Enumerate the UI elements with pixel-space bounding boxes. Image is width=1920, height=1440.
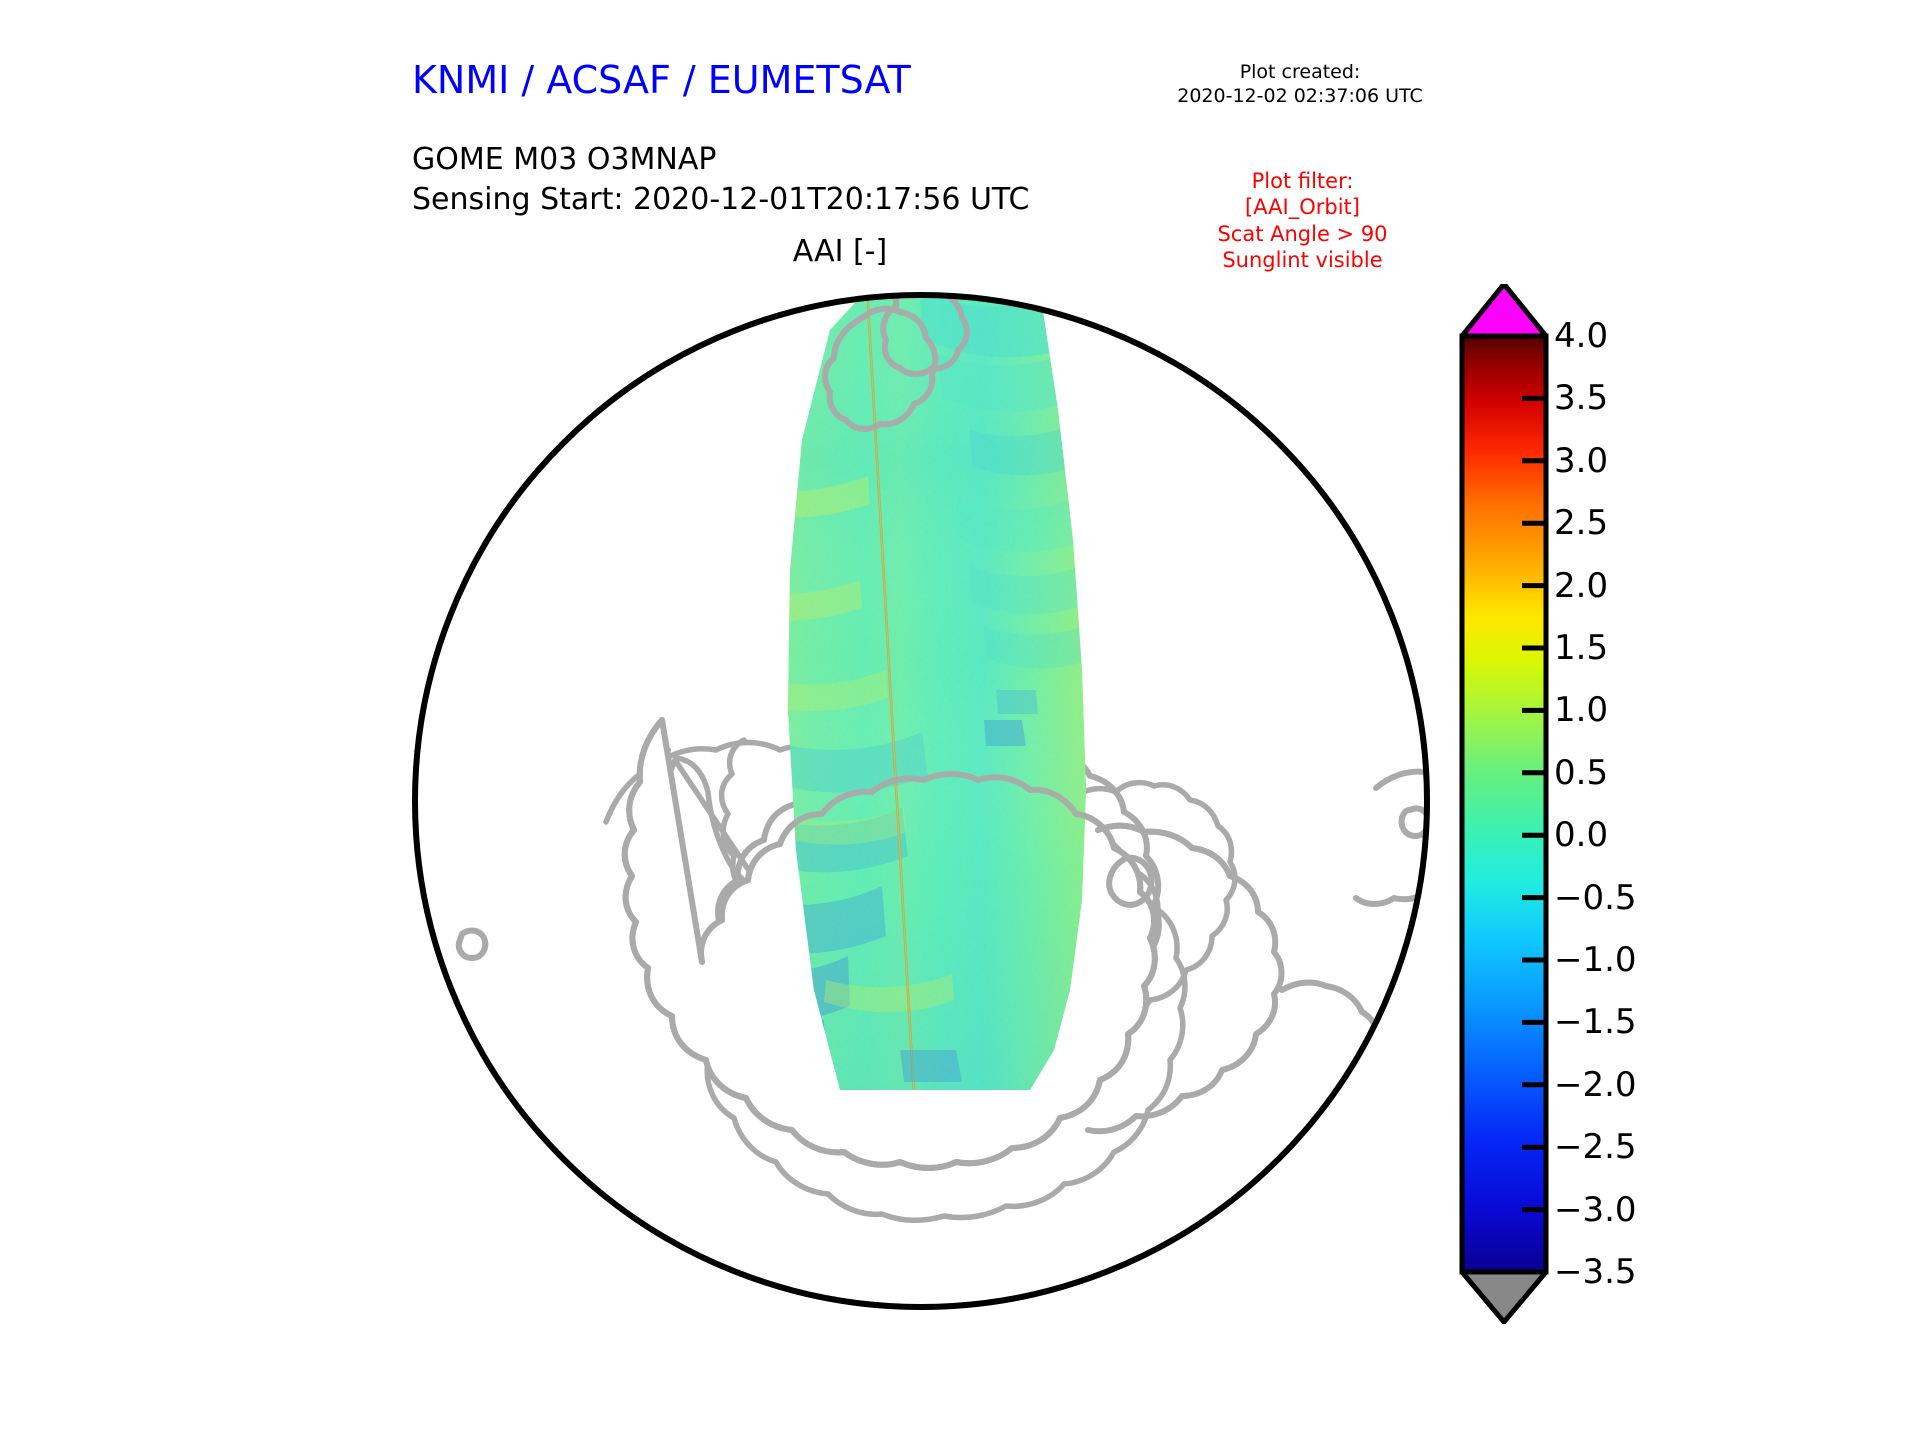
colorbar-graphic — [1448, 284, 1568, 1324]
plot-created-block: Plot created: 2020-12-02 02:37:06 UTC — [1155, 60, 1445, 109]
colorbar-tick-label: −3.0 — [1554, 1190, 1637, 1230]
colorbar-tick-label: 2.0 — [1554, 566, 1608, 606]
colorbar-tick-label: −0.5 — [1554, 878, 1637, 918]
polar-map — [410, 290, 1432, 1312]
organisation-title: KNMI / ACSAF / EUMETSAT — [412, 58, 911, 102]
colorbar-tick-label: 1.5 — [1554, 628, 1608, 668]
colorbar-tick-label: −3.5 — [1554, 1252, 1637, 1292]
colorbar-tick-label: 0.0 — [1554, 815, 1608, 855]
colorbar-tick-label: −2.0 — [1554, 1065, 1637, 1105]
colorbar: 4.03.53.02.52.01.51.00.50.0−0.5−1.0−1.5−… — [1448, 284, 1778, 1324]
plot-created-label: Plot created: — [1155, 60, 1445, 84]
plot-filter-line-1: [AAI_Orbit] — [1175, 194, 1430, 220]
colorbar-tick-label: 3.0 — [1554, 441, 1608, 481]
colorbar-tick-label: −1.0 — [1554, 940, 1637, 980]
plot-created-timestamp: 2020-12-02 02:37:06 UTC — [1155, 84, 1445, 108]
colorbar-tick-label: 2.5 — [1554, 503, 1608, 543]
colorbar-tick-label: 4.0 — [1554, 316, 1608, 356]
quantity-title: AAI [-] — [690, 234, 990, 269]
colorbar-tick-label: −2.5 — [1554, 1127, 1637, 1167]
plot-filter-line-3: Sunglint visible — [1175, 247, 1430, 273]
colorbar-under-arrow — [1462, 1272, 1546, 1322]
colorbar-tick-label: 0.5 — [1554, 753, 1608, 793]
figure-canvas: KNMI / ACSAF / EUMETSAT Plot created: 20… — [0, 0, 1920, 1440]
plot-filter-line-2: Scat Angle > 90 — [1175, 221, 1430, 247]
colorbar-over-arrow — [1462, 284, 1546, 336]
sensing-start-line: Sensing Start: 2020-12-01T20:17:56 UTC — [412, 180, 1029, 220]
colorbar-tick-label: 1.0 — [1554, 690, 1608, 730]
instrument-product-line: GOME M03 O3MNAP — [412, 140, 1029, 180]
plot-filter-block: Plot filter: [AAI_Orbit] Scat Angle > 90… — [1175, 168, 1430, 274]
plot-title-block: GOME M03 O3MNAP Sensing Start: 2020-12-0… — [412, 140, 1029, 219]
colorbar-tick-label: −1.5 — [1554, 1002, 1637, 1042]
map-panel — [410, 290, 1432, 1312]
colorbar-tick-label: 3.5 — [1554, 378, 1608, 418]
colorbar-gradient — [1462, 336, 1546, 1272]
plot-filter-heading: Plot filter: — [1175, 168, 1430, 194]
